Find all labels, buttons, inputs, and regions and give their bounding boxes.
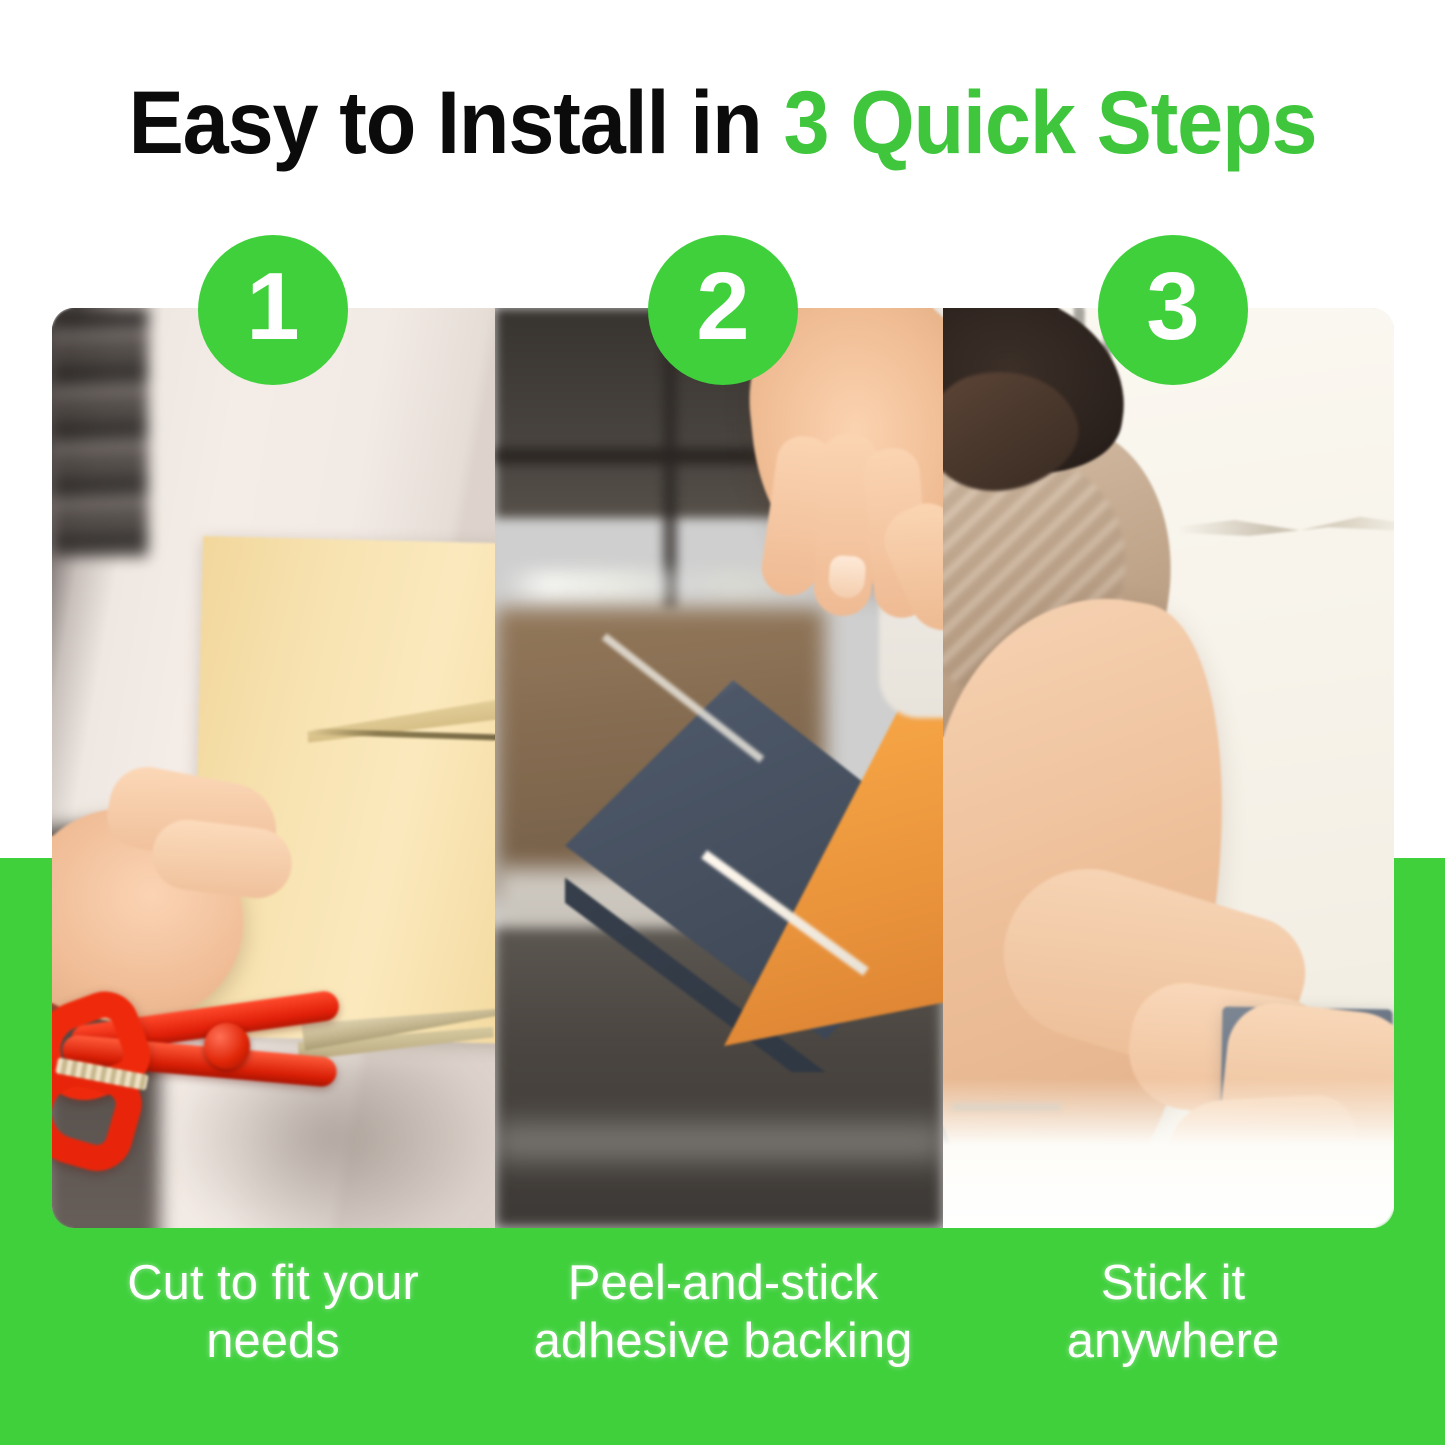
step-3-caption-line-1: Stick it <box>963 1255 1383 1313</box>
headline-black-part: Easy to Install in <box>129 72 784 172</box>
step-1-photo <box>52 308 495 1228</box>
baseboard-line <box>951 1104 1061 1110</box>
step-1-caption-line-2: needs <box>63 1313 483 1371</box>
step-1-caption-line-1: Cut to fit your <box>63 1255 483 1313</box>
page-title: Easy to Install in 3 Quick Steps <box>51 78 1395 167</box>
step-3-photo <box>943 308 1394 1228</box>
floor-wash <box>943 1078 1394 1228</box>
step-2-caption: Peel-and-stick adhesive backing <box>513 1255 933 1371</box>
step-number-badge-2: 2 <box>648 235 798 385</box>
step-number-badge-3: 3 <box>1098 235 1248 385</box>
floor-reflection <box>495 1110 943 1174</box>
step-number-badge-1: 1 <box>198 235 348 385</box>
step-3-caption: Stick it anywhere <box>963 1255 1383 1371</box>
install-steps-infographic: Easy to Install in 3 Quick Steps <box>0 0 1445 1445</box>
background-lights <box>503 570 803 604</box>
step-2-photo <box>495 308 943 1228</box>
step-3-caption-line-2: anywhere <box>963 1313 1383 1371</box>
step-photo-strip <box>52 308 1394 1228</box>
scissors-pivot-screw <box>204 1023 250 1069</box>
step-1-caption: Cut to fit your needs <box>63 1255 483 1371</box>
headline-green-part: 3 Quick Steps <box>784 72 1317 172</box>
step-2-caption-line-1: Peel-and-stick <box>513 1255 933 1313</box>
step-2-caption-line-2: adhesive backing <box>513 1313 933 1371</box>
background-shelf <box>52 308 148 558</box>
